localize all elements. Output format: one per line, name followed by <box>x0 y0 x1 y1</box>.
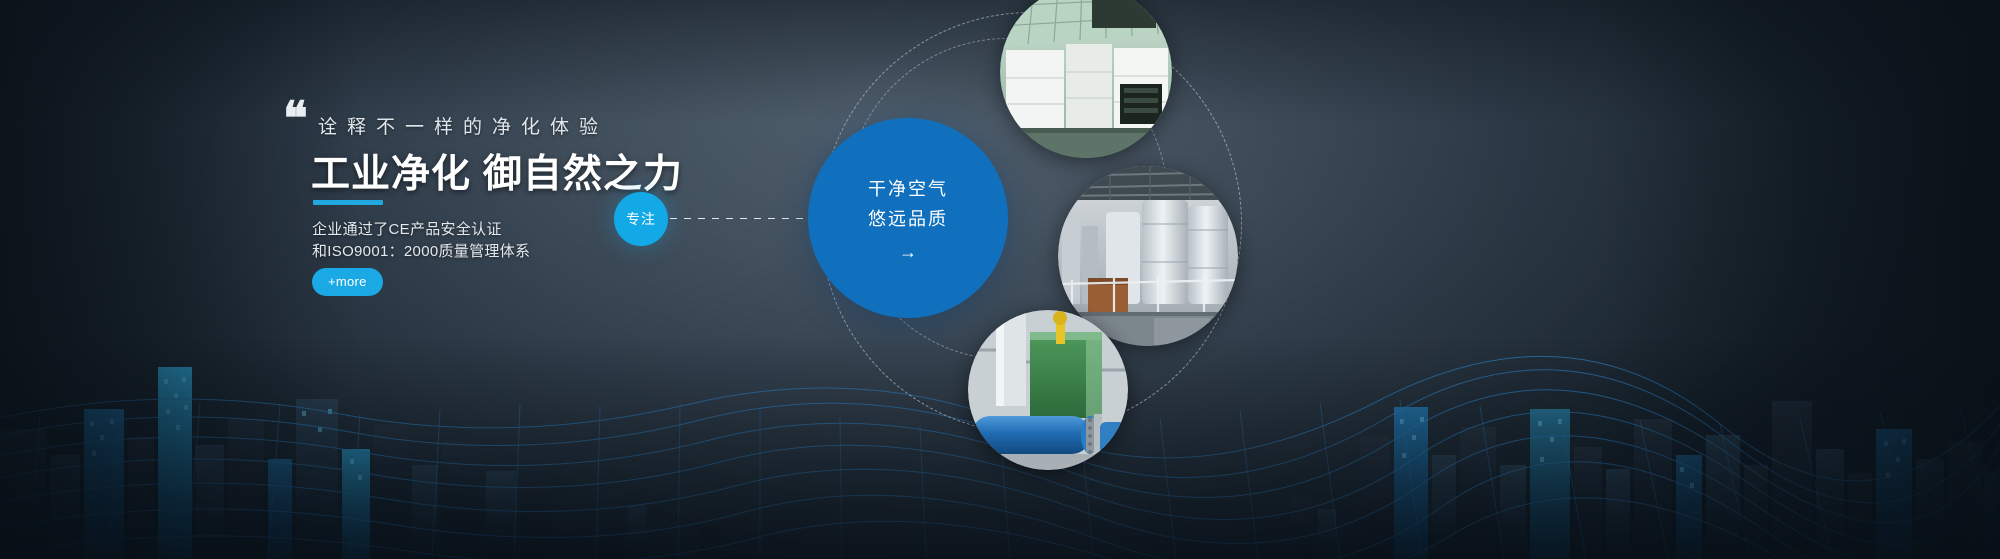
focus-badge[interactable]: 专注 <box>614 192 668 246</box>
hero-subtitle: 诠释不一样的净化体验 <box>318 112 608 139</box>
focus-badge-label: 专注 <box>626 209 656 229</box>
circle-line-2: 悠远品质 <box>868 204 948 234</box>
circle-line-1: 干净空气 <box>868 174 948 204</box>
paragraph-line-2: 和ISO9001：2000质量管理体系 <box>312 243 530 260</box>
quote-mark-icon: ❝ <box>283 96 306 142</box>
main-feature-circle[interactable]: 干净空气 悠远品质 → <box>808 118 1008 318</box>
hero-banner: ❝ 诠释不一样的净化体验 工业净化 御自然之力 企业通过了CE产品安全认证 和I… <box>0 0 2000 559</box>
accent-divider <box>313 200 383 205</box>
more-button[interactable]: +more <box>312 268 383 296</box>
hero-paragraph: 企业通过了CE产品安全认证 和ISO9001：2000质量管理体系 <box>312 219 530 263</box>
photo-blue-pipe-machinery[interactable] <box>968 310 1128 470</box>
dashed-connector-line <box>670 218 806 219</box>
hero-headline: 工业净化 御自然之力 <box>311 143 683 199</box>
paragraph-line-1: 企业通过了CE产品安全认证 <box>312 221 502 238</box>
arrow-right-icon: → <box>899 242 917 263</box>
